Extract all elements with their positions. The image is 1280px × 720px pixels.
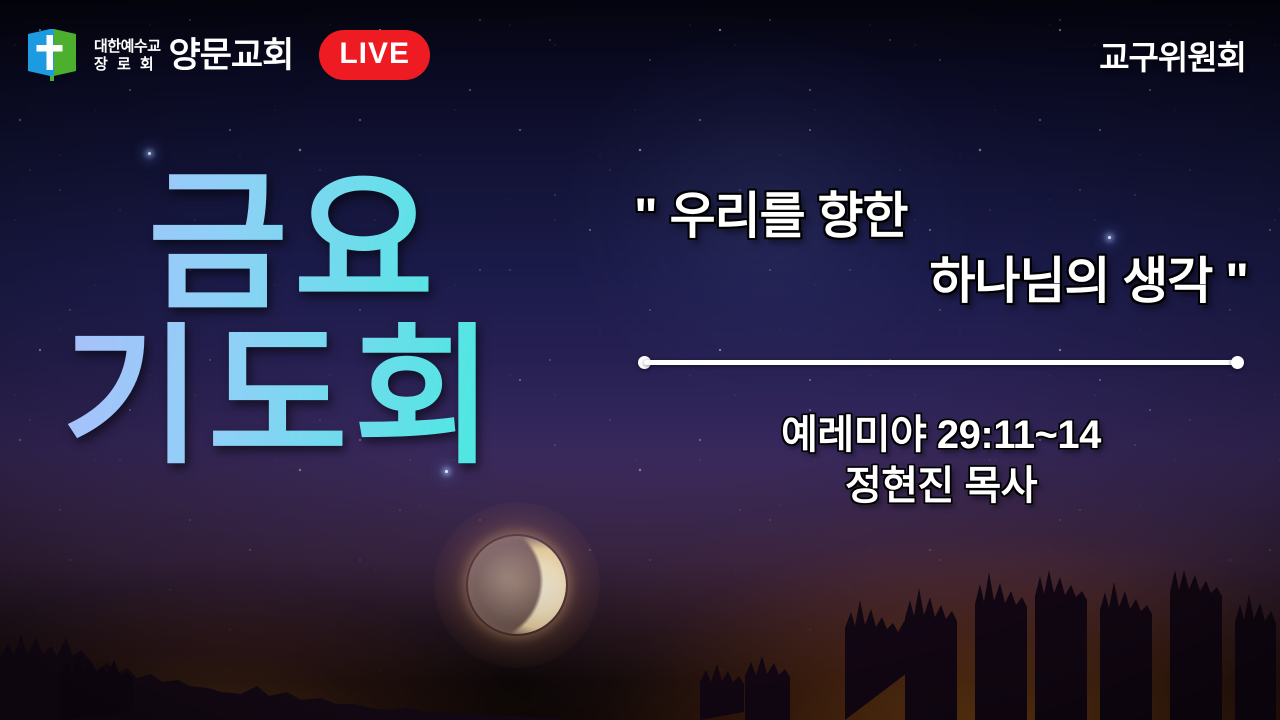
live-badge: LIVE (319, 30, 430, 80)
divider-bar (644, 360, 1238, 365)
scripture-and-preacher: 예레미야 29:11~14 정현진 목사 (620, 410, 1262, 512)
stream-title-card: 대한예수교 장 로 회 양문교회 LIVE 교구위원회 금요 기도회 " 우리를… (0, 0, 1280, 720)
preacher-name: 정현진 목사 (620, 461, 1262, 512)
series-title-line-1: 금요 (62, 168, 582, 318)
sermon-title-line-2: 하나님의 생각 " (620, 249, 1262, 314)
denomination-name: 대한예수교 장 로 회 (94, 38, 161, 72)
header-bar: 대한예수교 장 로 회 양문교회 LIVE 교구위원회 (0, 0, 1280, 110)
church-branding: 대한예수교 장 로 회 양문교회 LIVE (24, 26, 430, 84)
sermon-title: " 우리를 향한 하나님의 생각 " (620, 184, 1262, 314)
committee-label: 교구위원회 (1099, 31, 1246, 79)
denomination-line-1: 대한예수교 (94, 39, 161, 54)
scripture-reference: 예레미야 29:11~14 (620, 410, 1262, 461)
section-divider (638, 356, 1244, 368)
sermon-title-line-1: " 우리를 향한 (620, 184, 1262, 249)
church-wordmark: 대한예수교 장 로 회 양문교회 (94, 38, 293, 73)
series-title-line-2: 기도회 (62, 322, 582, 472)
open-bible-cross-logo-icon (24, 26, 82, 84)
sermon-info-panel: " 우리를 향한 하나님의 생각 " 예레미야 29:11~14 정현진 목사 (620, 184, 1262, 512)
denomination-line-2: 장 로 회 (94, 57, 161, 72)
church-name: 양문교회 (169, 38, 294, 73)
divider-dot-right (1231, 356, 1244, 369)
service-series-title: 금요 기도회 (62, 168, 582, 473)
